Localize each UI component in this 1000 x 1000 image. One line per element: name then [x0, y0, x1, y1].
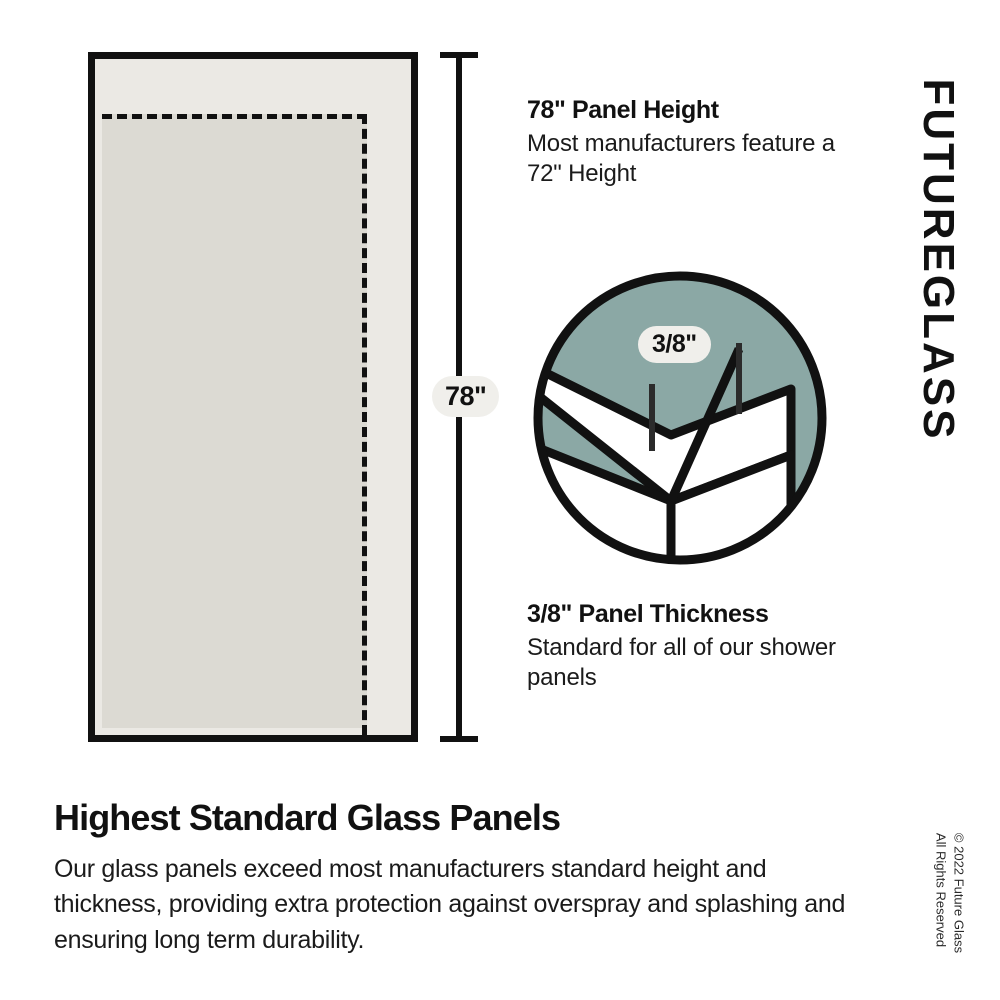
- panel-outline-72-dashed: [102, 114, 367, 735]
- panel-thickness-detail-illustration: 3/8": [531, 269, 829, 567]
- panel-height-info-block: 78" Panel Height Most manufacturers feat…: [527, 96, 857, 190]
- footer-body-text: Our glass panels exceed most manufacture…: [54, 852, 874, 959]
- copyright-notice: © 2022 Future Glass All Rights Reserved: [922, 818, 978, 968]
- brand-wordmark-text: FUTUREGLASS: [916, 79, 960, 442]
- infographic-canvas: 78" 78" Panel Height Most manufacturers …: [0, 0, 1000, 1000]
- dimension-badge-78: 78": [432, 376, 499, 417]
- thickness-badge-three-eighths: 3/8": [638, 326, 711, 363]
- panel-thickness-info-block: 3/8" Panel Thickness Standard for all of…: [527, 600, 857, 694]
- panel-height-description: Most manufacturers feature a 72" Height: [527, 129, 857, 190]
- panel-height-title: 78" Panel Height: [527, 96, 857, 125]
- footer-headline: Highest Standard Glass Panels: [54, 798, 874, 838]
- copyright-line-2: All Rights Reserved: [932, 833, 950, 953]
- brand-wordmark-futureglass: FUTUREGLASS: [906, 40, 970, 480]
- panel-thickness-description: Standard for all of our shower panels: [527, 633, 857, 694]
- panel-outline-78: [88, 52, 418, 742]
- panel-thickness-title: 3/8" Panel Thickness: [527, 600, 857, 629]
- dimension-cap-bottom: [440, 736, 478, 742]
- panel-height-diagram: [88, 52, 418, 742]
- footer-section: Highest Standard Glass Panels Our glass …: [54, 798, 874, 958]
- copyright-line-1: © 2022 Future Glass: [950, 833, 968, 953]
